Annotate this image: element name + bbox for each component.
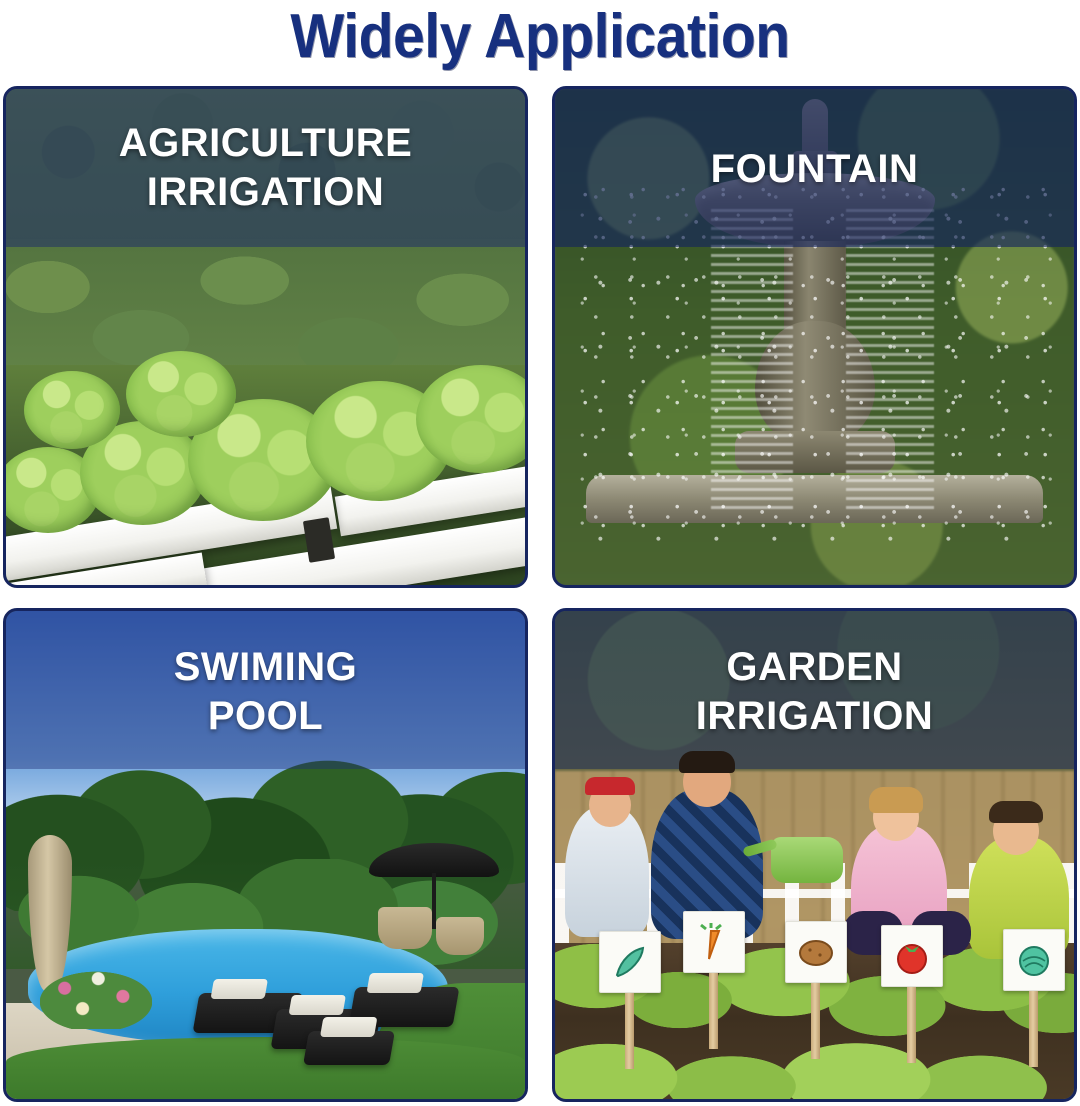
hydroponic-bed	[6, 365, 525, 585]
marker-sign	[599, 931, 661, 993]
carrot-icon	[693, 921, 735, 963]
marker-stake	[625, 993, 634, 1069]
water-spray-droplets	[576, 179, 1054, 545]
marker-stake	[1029, 991, 1038, 1067]
lettuce-icon	[1013, 939, 1055, 981]
page-title: Widely Application	[43, 0, 1037, 78]
cucumber-marker	[599, 931, 659, 1069]
carrot-marker	[683, 911, 743, 1049]
lounge-chair	[303, 1031, 395, 1065]
marker-sign	[1003, 929, 1065, 991]
child-boy-hair	[989, 801, 1043, 823]
panel-label-swiming-pool: SWIMING POOL	[6, 643, 525, 741]
marker-stake	[709, 973, 718, 1049]
panel-garden-irrigation[interactable]: GARDEN IRRIGATION	[552, 608, 1077, 1102]
flower-planter	[436, 917, 484, 955]
lettuce-head	[126, 351, 236, 437]
marker-stake	[907, 987, 916, 1063]
child-girl-hair	[869, 787, 923, 813]
panel-swiming-pool[interactable]: SWIMING POOL	[3, 608, 528, 1102]
flower-planter	[378, 907, 432, 949]
potato-marker	[785, 921, 845, 1059]
cucumber-icon	[609, 941, 651, 983]
adult-man-hair	[679, 751, 735, 773]
panel-fountain[interactable]: FOUNTAIN	[552, 86, 1077, 588]
marker-sign	[785, 921, 847, 983]
marker-sign	[683, 911, 745, 973]
panel-agriculture-irrigation[interactable]: AGRICULTURE IRRIGATION	[3, 86, 528, 588]
panel-label-fountain: FOUNTAIN	[555, 145, 1074, 194]
lettuce-head	[24, 371, 120, 449]
marker-stake	[811, 983, 820, 1059]
tomato-icon	[891, 935, 933, 977]
watering-can	[771, 837, 843, 883]
tomato-marker	[881, 925, 941, 1063]
panel-label-garden-irrigation: GARDEN IRRIGATION	[555, 643, 1074, 741]
lawn	[6, 1037, 525, 1099]
potato-icon	[795, 931, 837, 973]
panel-label-agriculture-irrigation: AGRICULTURE IRRIGATION	[6, 119, 525, 217]
lettuce-marker	[1003, 929, 1063, 1067]
flower-planter	[40, 961, 152, 1029]
red-bandana	[585, 777, 635, 795]
marker-sign	[881, 925, 943, 987]
application-panel-grid: AGRICULTURE IRRIGATION FOUNTAIN	[3, 86, 1077, 1102]
